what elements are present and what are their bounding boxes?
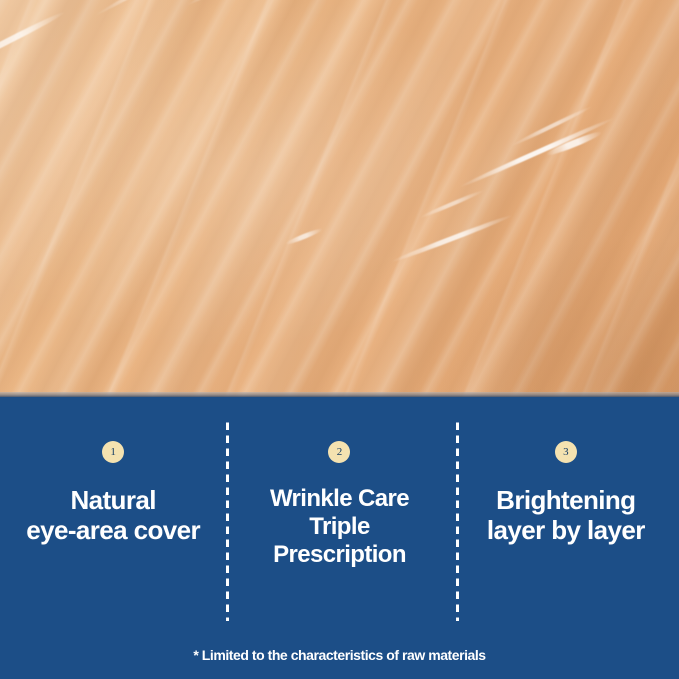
feature-list: 1 Natural eye-area cover 2 Wrinkle Care … [0, 397, 679, 629]
feature-number-badge: 2 [328, 441, 350, 463]
product-detail-banner: 1 Natural eye-area cover 2 Wrinkle Care … [0, 0, 679, 679]
feature-divider-1 [226, 419, 229, 621]
feature-divider-2 [456, 419, 459, 621]
feature-item-3: 3 Brightening layer by layer [453, 397, 679, 629]
feature-title: Wrinkle Care Triple Prescription [266, 485, 413, 568]
feature-panel: 1 Natural eye-area cover 2 Wrinkle Care … [0, 397, 679, 679]
feature-title: Brightening layer by layer [483, 485, 649, 545]
cream-swatch-photo [0, 0, 679, 397]
feature-item-2: 2 Wrinkle Care Triple Prescription [226, 397, 452, 629]
feature-title: Natural eye-area cover [22, 485, 204, 545]
foundation-cream-smear [0, 0, 679, 397]
feature-number-badge: 3 [555, 441, 577, 463]
cream-shading [0, 0, 679, 397]
footnote-text: * Limited to the characteristics of raw … [0, 647, 679, 663]
feature-number-badge: 1 [102, 441, 124, 463]
feature-item-1: 1 Natural eye-area cover [0, 397, 226, 629]
